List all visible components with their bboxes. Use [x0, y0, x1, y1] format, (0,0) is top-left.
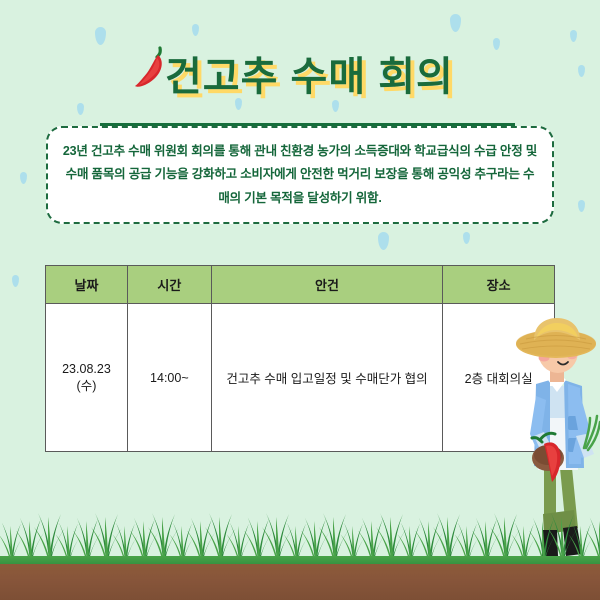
page-title: 건고추 수매 회의 — [165, 44, 585, 102]
meeting-schedule-table: 날짜 시간 안건 장소 23.08.23 (수) 14:00~ 건고추 수매 입… — [45, 265, 555, 452]
grass-row — [0, 502, 600, 564]
water-droplet-icon — [12, 275, 19, 287]
column-header-place: 장소 — [443, 266, 555, 304]
water-droplet-icon — [578, 200, 585, 212]
column-header-time: 시간 — [127, 266, 211, 304]
water-droplet-icon — [463, 232, 470, 244]
cell-time: 14:00~ — [127, 304, 211, 452]
column-header-date: 날짜 — [46, 266, 128, 304]
table-row: 23.08.23 (수) 14:00~ 건고추 수매 입고일정 및 수매단가 협… — [46, 304, 555, 452]
soil-strip — [0, 564, 600, 600]
poster-canvas: 건고추 수매 회의 23년 건고추 수매 위원회 회의를 통해 관내 친환경 농… — [0, 0, 600, 600]
table-header-row: 날짜 시간 안건 장소 — [46, 266, 555, 304]
description-box: 23년 건고추 수매 위원회 회의를 통해 관내 친환경 농가의 소득증대와 학… — [46, 126, 554, 224]
water-droplet-icon — [20, 172, 27, 184]
title-block: 건고추 수매 회의 — [0, 22, 600, 112]
cell-date: 23.08.23 (수) — [46, 304, 128, 452]
water-droplet-icon — [378, 232, 389, 250]
cell-topic: 건고추 수매 입고일정 및 수매단가 협의 — [211, 304, 442, 452]
description-text: 23년 건고추 수매 위원회 회의를 통해 관내 친환경 농가의 소득증대와 학… — [48, 140, 552, 209]
table-body: 23.08.23 (수) 14:00~ 건고추 수매 입고일정 및 수매단가 협… — [46, 304, 555, 452]
table-header: 날짜 시간 안건 장소 — [46, 266, 555, 304]
column-header-topic: 안건 — [211, 266, 442, 304]
